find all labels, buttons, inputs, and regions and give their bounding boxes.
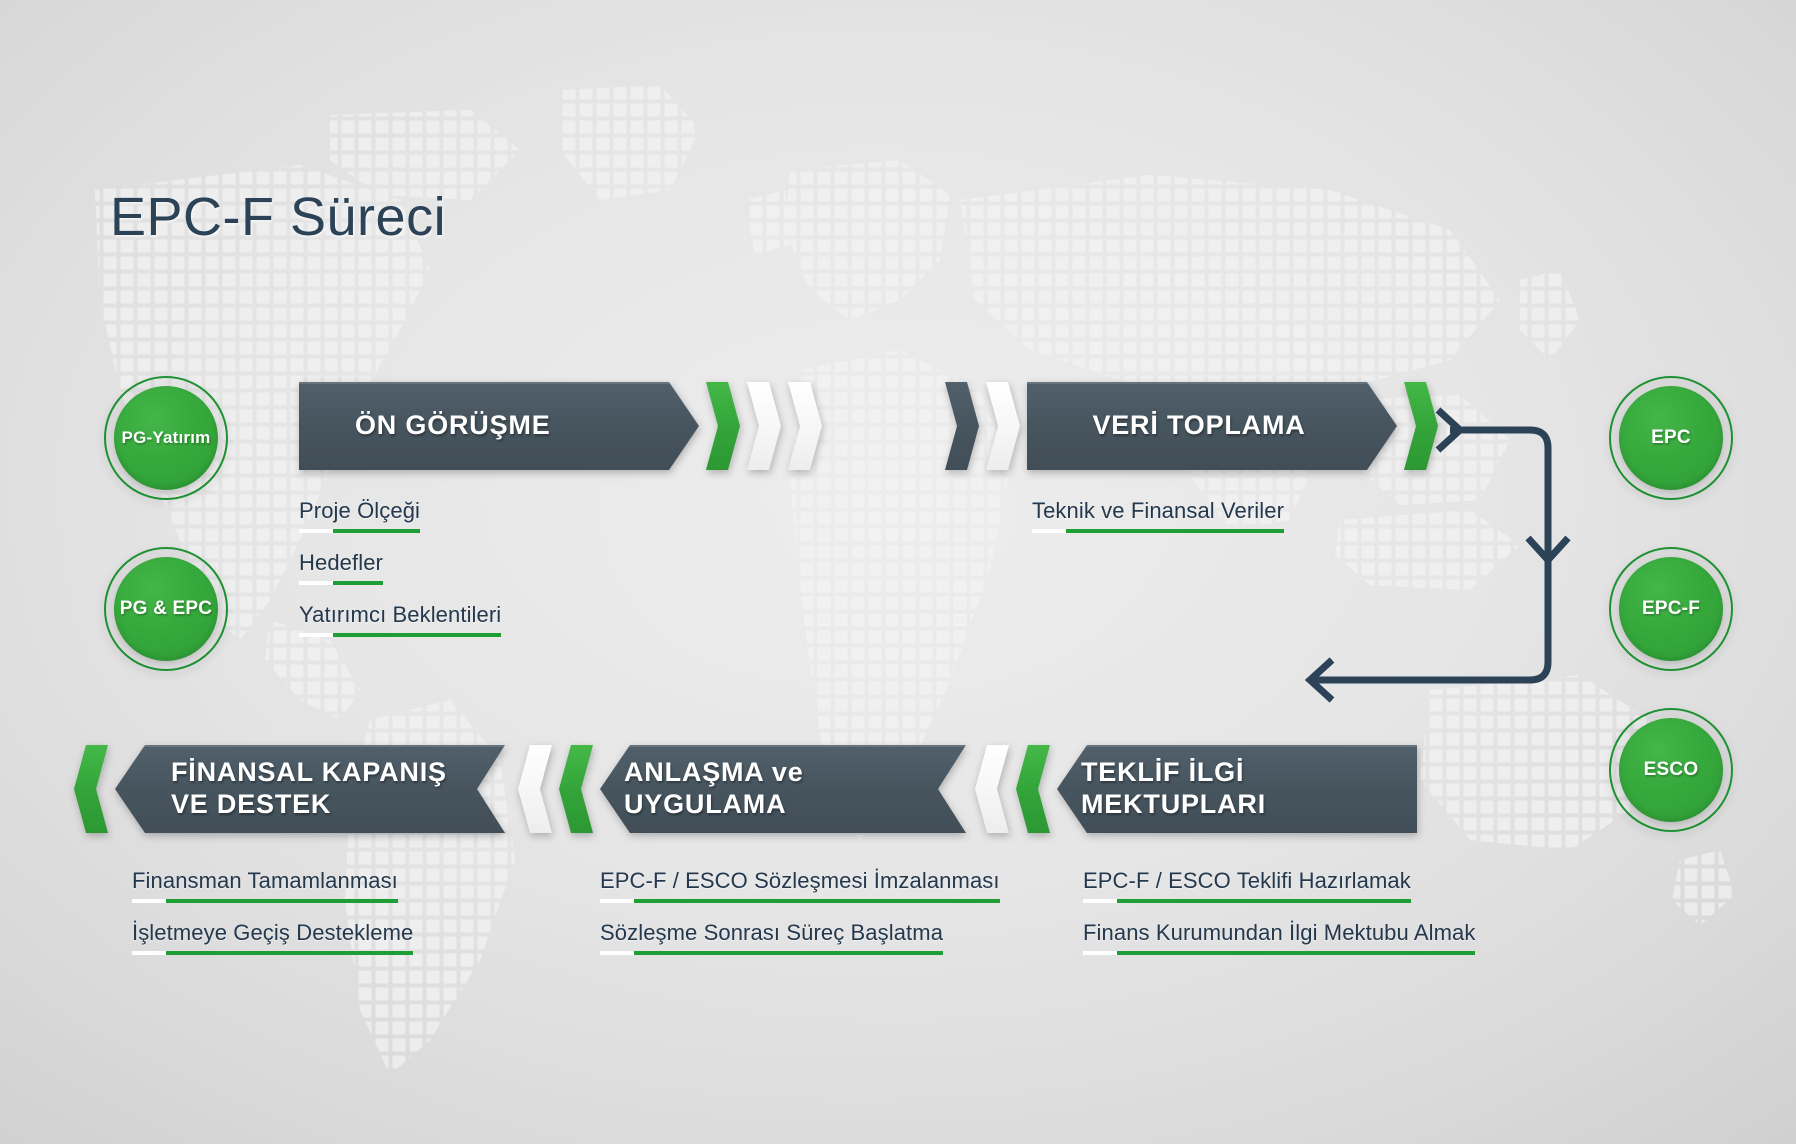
step-items-teklif-ilgi-mektuplari: EPC-F / ESCO Teklifi Hazırlamak Finans K… <box>1083 868 1475 972</box>
list-item-row: Proje Ölçeği <box>299 498 501 550</box>
actor-circle-fill: EPC-F <box>1619 557 1723 661</box>
banner-body: TEKLİF İLGİ MEKTUPLARI <box>1057 745 1417 833</box>
chevron-left-green-icon <box>1016 745 1050 833</box>
infographic-canvas: EPC-F Süreci PG-Yatırım PG & EPC EPC EPC… <box>0 0 1796 1144</box>
actor-circle-pg-epc[interactable]: PG & EPC <box>104 547 228 671</box>
underline-green-segment <box>634 951 943 955</box>
actor-circle-fill: EPC <box>1619 386 1723 490</box>
chevron-left-green-icon <box>559 745 593 833</box>
underline-white-segment <box>1083 951 1117 955</box>
list-item-label: Finansman Tamamlanması <box>132 868 398 894</box>
list-item: Teknik ve Finansal Veriler <box>1032 498 1284 533</box>
item-underline <box>1083 951 1475 955</box>
list-item: EPC-F / ESCO Sözleşmesi İmzalanması <box>600 868 1000 903</box>
actor-circle-label: EPC-F <box>1642 598 1700 620</box>
list-item-label: Finans Kurumundan İlgi Mektubu Almak <box>1083 920 1475 946</box>
item-underline <box>1032 529 1284 533</box>
underline-green-segment <box>333 581 383 585</box>
list-item-row: EPC-F / ESCO Teklifi Hazırlamak <box>1083 868 1475 920</box>
underline-white-segment <box>299 633 333 637</box>
chevron-right-white-icon <box>788 382 822 470</box>
list-item-label: EPC-F / ESCO Sözleşmesi İmzalanması <box>600 868 1000 894</box>
step-items-finansal-kapanis-ve-destek: Finansman Tamamlanması İşletmeye Geçiş D… <box>132 868 413 972</box>
list-item-label: EPC-F / ESCO Teklifi Hazırlamak <box>1083 868 1411 894</box>
underline-white-segment <box>299 529 333 533</box>
step-items-on-gorusme: Proje Ölçeği Hedefler Yatırımcı Beklenti… <box>299 498 501 654</box>
banner-body: ÖN GÖRÜŞME <box>299 382 699 470</box>
list-item-label: İşletmeye Geçiş Destekleme <box>132 920 413 946</box>
underline-white-segment <box>600 899 634 903</box>
step-banner-label: ÖN GÖRÜŞME <box>355 410 551 442</box>
underline-white-segment <box>132 951 166 955</box>
underline-white-segment <box>1083 899 1117 903</box>
flow-connector <box>1440 390 1580 720</box>
chevron-left-green-icon <box>74 745 108 833</box>
list-item-label: Yatırımcı Beklentileri <box>299 602 501 628</box>
list-item: İşletmeye Geçiş Destekleme <box>132 920 413 955</box>
actor-circle-label: ESCO <box>1644 759 1699 781</box>
list-item-label: Proje Ölçeği <box>299 498 420 524</box>
chevron-right-white-icon <box>747 382 781 470</box>
item-underline <box>299 633 501 637</box>
actor-circle-esco[interactable]: ESCO <box>1609 708 1733 832</box>
chevron-right-slate-icon <box>945 382 979 470</box>
actor-circle-fill: PG-Yatırım <box>114 386 218 490</box>
underline-green-segment <box>634 899 1000 903</box>
chevron-left-white-icon <box>975 745 1009 833</box>
actor-circle-epc[interactable]: EPC <box>1609 376 1733 500</box>
vignette-overlay <box>0 0 1796 1144</box>
underline-white-segment <box>132 899 166 903</box>
chevron-right-green-icon <box>706 382 740 470</box>
actor-circle-pg-yatirim[interactable]: PG-Yatırım <box>104 376 228 500</box>
step-banner-label: FİNANSAL KAPANIŞ VE DESTEK <box>171 757 447 821</box>
item-underline <box>299 529 420 533</box>
list-item-row: Finansman Tamamlanması <box>132 868 413 920</box>
banner-body: FİNANSAL KAPANIŞ VE DESTEK <box>115 745 505 833</box>
underline-white-segment <box>600 951 634 955</box>
list-item-row: İşletmeye Geçiş Destekleme <box>132 920 413 972</box>
list-item-row: Finans Kurumundan İlgi Mektubu Almak <box>1083 920 1475 972</box>
underline-white-segment <box>299 581 333 585</box>
list-item-row: Yatırımcı Beklentileri <box>299 602 501 654</box>
item-underline <box>132 951 413 955</box>
item-underline <box>1083 899 1411 903</box>
list-item-label: Hedefler <box>299 550 383 576</box>
list-item: EPC-F / ESCO Teklifi Hazırlamak <box>1083 868 1411 903</box>
list-item-label: Teknik ve Finansal Veriler <box>1032 498 1284 524</box>
underline-green-segment <box>1066 529 1284 533</box>
underline-green-segment <box>1117 899 1411 903</box>
list-item-row: Hedefler <box>299 550 501 602</box>
list-item: Hedefler <box>299 550 383 585</box>
item-underline <box>600 899 1000 903</box>
actor-circle-label: PG & EPC <box>120 598 212 620</box>
step-banner-finansal-kapanis-ve-destek[interactable]: FİNANSAL KAPANIŞ VE DESTEK <box>74 745 505 833</box>
list-item-row: EPC-F / ESCO Sözleşmesi İmzalanması <box>600 868 1000 920</box>
item-underline <box>600 951 943 955</box>
list-item: Proje Ölçeği <box>299 498 420 533</box>
step-banner-teklif-ilgi-mektuplari[interactable]: TEKLİF İLGİ MEKTUPLARI <box>975 745 1417 833</box>
actor-circle-fill: PG & EPC <box>114 557 218 661</box>
underline-white-segment <box>1032 529 1066 533</box>
underline-green-segment <box>333 633 501 637</box>
step-items-anlasma-ve-uygulama: EPC-F / ESCO Sözleşmesi İmzalanması Sözl… <box>600 868 1000 972</box>
banner-body: VERİ TOPLAMA <box>1027 382 1397 470</box>
step-banner-veri-toplama[interactable]: VERİ TOPLAMA <box>945 382 1438 470</box>
actor-circle-epc-f[interactable]: EPC-F <box>1609 547 1733 671</box>
list-item: Finansman Tamamlanması <box>132 868 398 903</box>
list-item-row: Sözleşme Sonrası Süreç Başlatma <box>600 920 1000 972</box>
step-banner-on-gorusme[interactable]: ÖN GÖRÜŞME <box>299 382 822 470</box>
list-item-label: Sözleşme Sonrası Süreç Başlatma <box>600 920 943 946</box>
list-item: Finans Kurumundan İlgi Mektubu Almak <box>1083 920 1475 955</box>
list-item: Sözleşme Sonrası Süreç Başlatma <box>600 920 943 955</box>
underline-green-segment <box>166 899 398 903</box>
list-item-row: Teknik ve Finansal Veriler <box>1032 498 1284 550</box>
actor-circle-label: EPC <box>1651 427 1691 449</box>
underline-green-segment <box>166 951 413 955</box>
step-banner-label: VERİ TOPLAMA <box>1092 410 1305 442</box>
chevron-right-green-icon <box>1404 382 1438 470</box>
underline-green-segment <box>333 529 420 533</box>
world-map-background <box>0 0 1796 1144</box>
chevron-left-white-icon <box>518 745 552 833</box>
banner-body: ANLAŞMA ve UYGULAMA <box>600 745 966 833</box>
actor-circle-fill: ESCO <box>1619 718 1723 822</box>
step-banner-label: ANLAŞMA ve UYGULAMA <box>624 757 966 821</box>
item-underline <box>299 581 383 585</box>
step-banner-anlasma-ve-uygulama[interactable]: ANLAŞMA ve UYGULAMA <box>518 745 966 833</box>
item-underline <box>132 899 398 903</box>
underline-green-segment <box>1117 951 1475 955</box>
list-item: Yatırımcı Beklentileri <box>299 602 501 637</box>
step-banner-label: TEKLİF İLGİ MEKTUPLARI <box>1081 757 1417 821</box>
step-items-veri-toplama: Teknik ve Finansal Veriler <box>1032 498 1284 550</box>
chevron-right-white-icon <box>986 382 1020 470</box>
actor-circle-label: PG-Yatırım <box>122 428 211 448</box>
page-title: EPC-F Süreci <box>110 186 446 248</box>
